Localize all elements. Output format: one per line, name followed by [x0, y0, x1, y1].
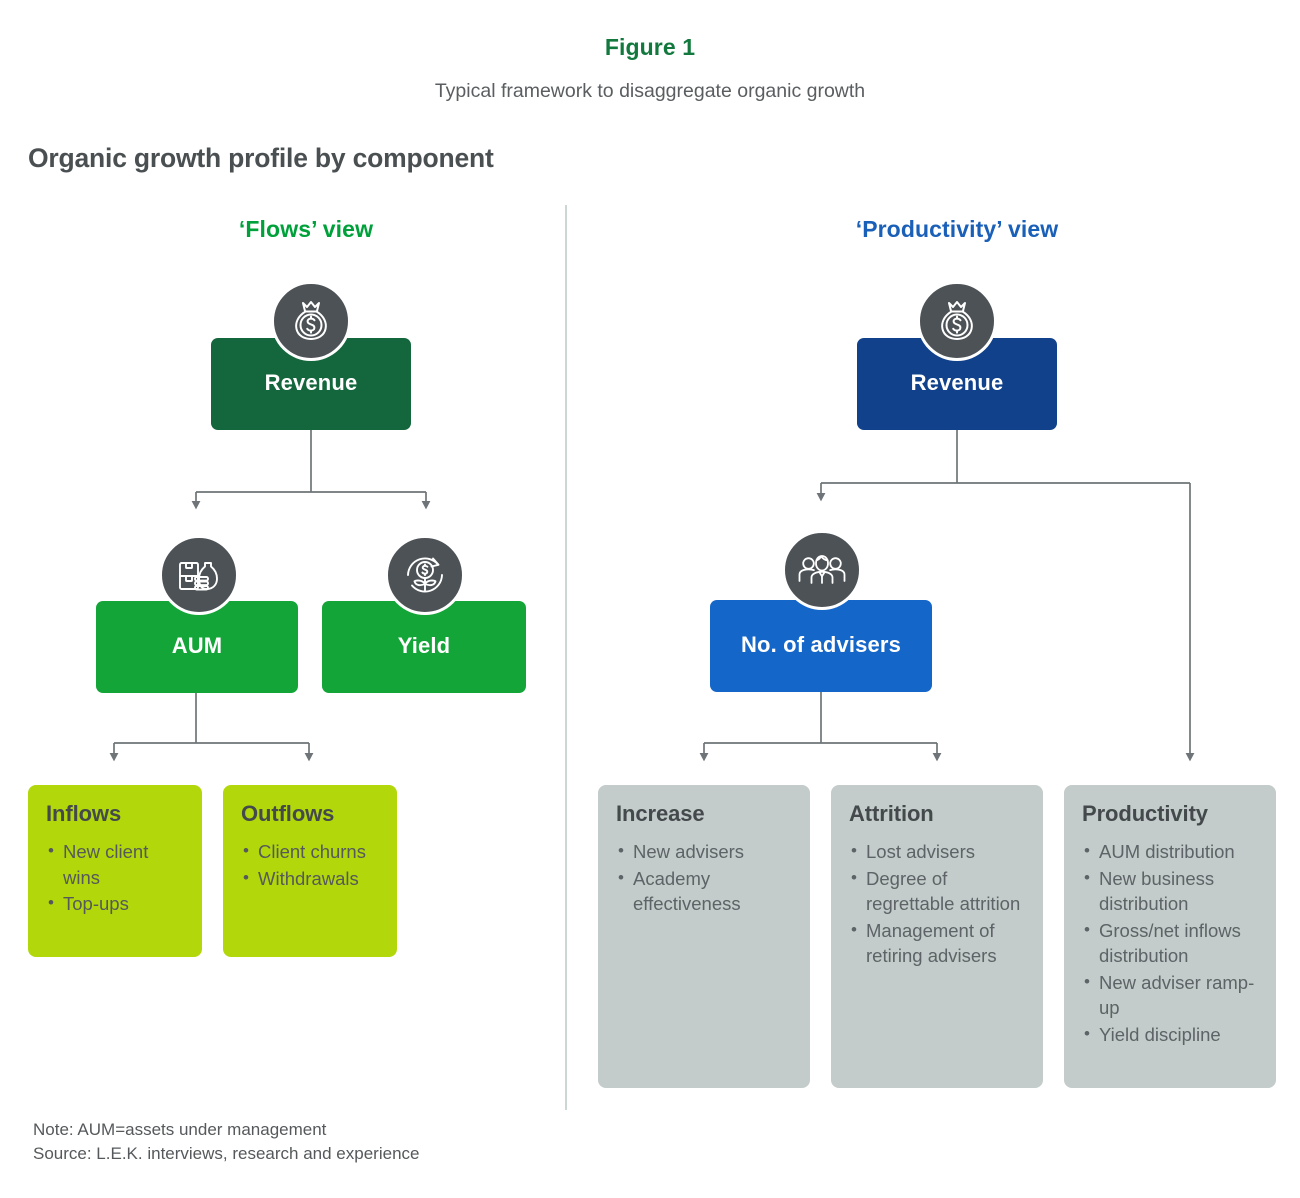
card-productivity[interactable]: Productivity AUM distributionNew busines…	[1064, 785, 1276, 1088]
figure-canvas: Figure 1 Typical framework to disaggrega…	[0, 0, 1300, 1198]
card-inflows-list: New client winsTop-ups	[46, 839, 188, 917]
figure-subtitle: Typical framework to disaggregate organi…	[0, 80, 1300, 103]
node-revenue-productivity-label: Revenue	[911, 370, 1004, 398]
list-item: New business distribution	[1082, 866, 1262, 917]
card-attrition-title: Attrition	[849, 801, 1029, 827]
list-item: Withdrawals	[241, 866, 383, 892]
column-header-flows: ‘Flows’ view	[131, 216, 481, 243]
list-item: Lost advisers	[849, 839, 1029, 865]
assets-box-coins-icon	[159, 535, 239, 615]
node-aum-label: AUM	[172, 633, 223, 661]
card-inflows-title: Inflows	[46, 801, 188, 827]
card-increase-list: New advisersAcademy effectiveness	[616, 839, 796, 917]
list-item: Academy effectiveness	[616, 866, 796, 917]
footnote-note: Note: AUM=assets under management	[33, 1120, 326, 1140]
column-divider	[565, 205, 567, 1110]
column-header-productivity: ‘Productivity’ view	[782, 216, 1132, 243]
card-increase-title: Increase	[616, 801, 796, 827]
node-revenue-flows-label: Revenue	[265, 370, 358, 398]
footnote-source: Source: L.E.K. interviews, research and …	[33, 1144, 419, 1164]
list-item: Client churns	[241, 839, 383, 865]
card-productivity-title: Productivity	[1082, 801, 1262, 827]
list-item: Management of retiring advisers	[849, 918, 1029, 969]
card-productivity-list: AUM distributionNew business distributio…	[1082, 839, 1262, 1047]
figure-label: Figure 1	[0, 34, 1300, 61]
page-title: Organic growth profile by component	[28, 143, 494, 174]
card-attrition-list: Lost advisersDegree of regrettable attri…	[849, 839, 1029, 969]
people-group-icon	[782, 530, 862, 610]
card-outflows-title: Outflows	[241, 801, 383, 827]
card-attrition[interactable]: Attrition Lost advisersDegree of regrett…	[831, 785, 1043, 1088]
node-number-of-advisers-label: No. of advisers	[741, 632, 901, 660]
money-bag-icon	[917, 281, 997, 361]
list-item: New advisers	[616, 839, 796, 865]
node-number-of-advisers[interactable]: No. of advisers	[710, 600, 932, 692]
card-inflows[interactable]: Inflows New client winsTop-ups	[28, 785, 202, 957]
card-outflows-list: Client churnsWithdrawals	[241, 839, 383, 891]
money-growth-icon	[385, 535, 465, 615]
list-item: New client wins	[46, 839, 188, 890]
list-item: Top-ups	[46, 891, 188, 917]
list-item: New adviser ramp-up	[1082, 970, 1262, 1021]
list-item: AUM distribution	[1082, 839, 1262, 865]
list-item: Degree of regrettable attrition	[849, 866, 1029, 917]
card-outflows[interactable]: Outflows Client churnsWithdrawals	[223, 785, 397, 957]
node-yield-label: Yield	[398, 633, 451, 661]
card-increase[interactable]: Increase New advisersAcademy effectivene…	[598, 785, 810, 1088]
money-bag-icon	[271, 281, 351, 361]
list-item: Gross/net inflows distribution	[1082, 918, 1262, 969]
list-item: Yield discipline	[1082, 1022, 1262, 1048]
